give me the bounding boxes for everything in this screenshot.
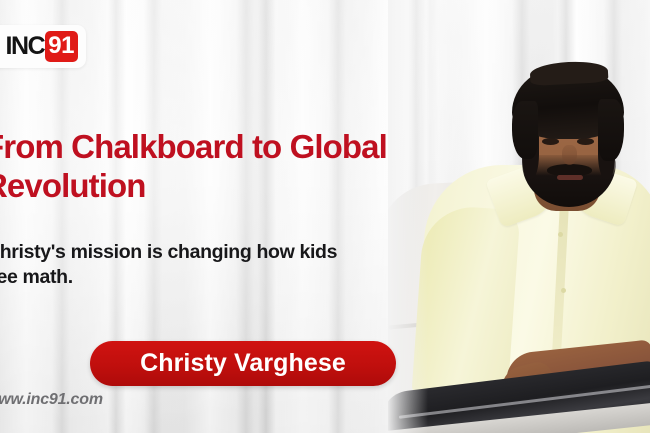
article-banner: INC 91 From Chalkboard to Global Revolut… (0, 0, 650, 433)
logo-badge: 91 (45, 31, 78, 62)
speaker-name: Christy Varghese (140, 351, 346, 376)
hair-top-tuft (529, 60, 608, 86)
logo-lockup: INC 91 (5, 31, 78, 62)
subtitle: Christy's mission is changing how kids s… (0, 240, 406, 291)
page-title: From Chalkboard to Global Revolution (0, 128, 454, 205)
eye-right (577, 138, 594, 145)
brand-logo[interactable]: INC 91 (0, 25, 86, 68)
logo-wordmark: INC (5, 34, 44, 59)
hair-side-left (512, 101, 538, 159)
mouth (557, 175, 583, 180)
shirt-left-sleeve (411, 204, 520, 400)
portrait-photo (388, 0, 650, 433)
hair-side-right (598, 99, 624, 161)
head (512, 65, 624, 201)
nose (562, 145, 577, 165)
site-url[interactable]: www.inc91.com (0, 391, 103, 409)
eye-left (542, 138, 559, 145)
shirt-button-upper (558, 232, 563, 237)
status-badge[interactable]: Christy Varghese (90, 341, 396, 386)
shirt-button-lower (561, 288, 566, 293)
